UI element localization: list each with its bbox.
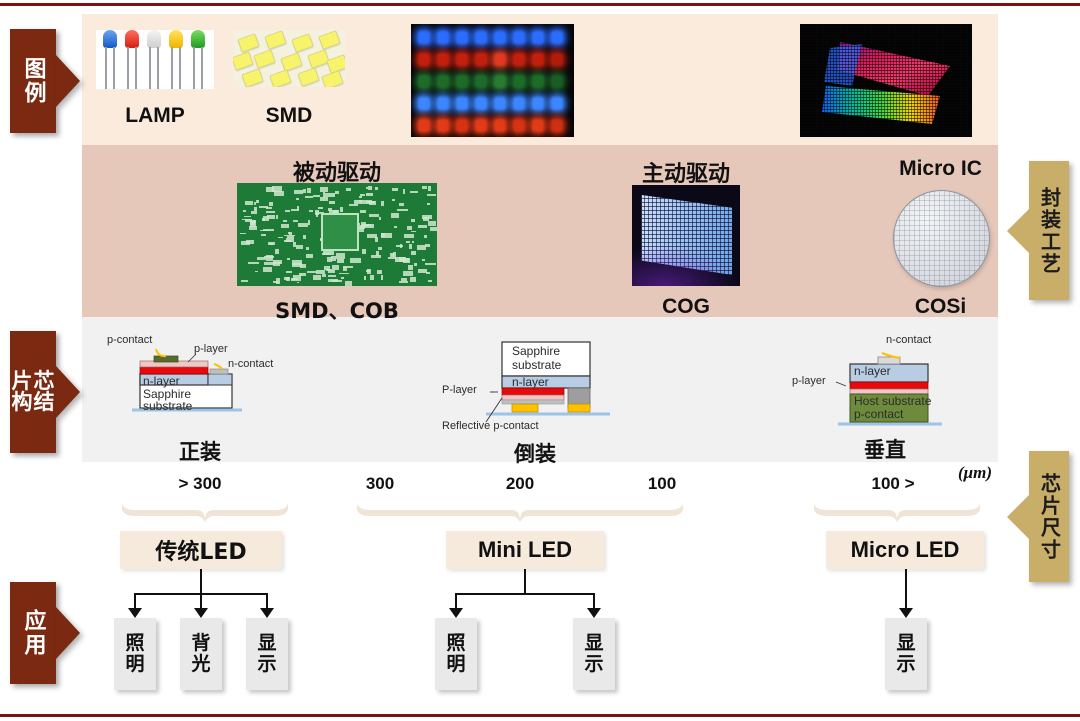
- flip-label-p-layer: P-layer: [442, 384, 477, 396]
- pcb-trace: [269, 202, 273, 205]
- pcb-trace: [371, 255, 381, 258]
- pcb-trace: [306, 247, 309, 250]
- lateral-chip-diagram: p-contact p-layer n-contact n-layer Sapp…: [110, 336, 290, 426]
- pcb-trace: [340, 207, 343, 212]
- pcb-trace: [276, 278, 280, 283]
- app-leaf-backlight[interactable]: 背光: [180, 618, 222, 690]
- pcb-trace: [241, 241, 250, 245]
- pcb-trace: [313, 195, 320, 197]
- led-pixel: [456, 31, 468, 44]
- pcb-trace: [399, 203, 404, 206]
- led-pixel: [494, 119, 506, 132]
- pcb-trace: [255, 271, 258, 273]
- pcb-trace: [278, 237, 283, 239]
- smd-caption: SMD: [233, 104, 345, 128]
- led-pixel: [418, 31, 430, 44]
- pcb-trace: [404, 234, 413, 237]
- flip-label-reflective-p-contact: Reflective p-contact: [442, 420, 539, 432]
- connector-vertical: [266, 593, 268, 609]
- flip-label-n-layer: n-layer: [512, 375, 549, 389]
- pcb-trace: [283, 220, 287, 223]
- pcb-trace: [297, 282, 299, 284]
- led-pixel: [456, 75, 468, 88]
- pcb-trace: [241, 280, 249, 282]
- pcb-trace: [263, 267, 272, 272]
- pcb-trace: [270, 243, 273, 245]
- pcb-trace: [406, 241, 411, 243]
- led-pixel: [475, 75, 487, 88]
- app-leaf-display-label: 显示: [896, 633, 915, 676]
- led-pixel: [551, 53, 563, 66]
- pcb-trace: [306, 254, 313, 259]
- bottom-divider-rule: [0, 714, 1080, 717]
- arrow-nose-icon: [56, 55, 80, 107]
- pcb-trace: [422, 186, 427, 189]
- pcb-trace: [411, 231, 416, 233]
- pcb-trace: [394, 226, 397, 228]
- pcb-trace: [335, 191, 340, 194]
- arrow-icon: [587, 608, 601, 618]
- smd-cob-caption: SMD、COB: [237, 295, 437, 325]
- pcb-trace: [343, 267, 347, 271]
- led-pixel: [475, 97, 487, 110]
- pcb-trace: [260, 230, 269, 232]
- pcb-chip: [321, 213, 359, 251]
- pcb-trace: [240, 233, 246, 235]
- category-traditional-led[interactable]: 传统LED: [120, 531, 282, 569]
- arrow-icon: [449, 608, 463, 618]
- pcb-trace: [294, 190, 303, 193]
- led-pixel: [475, 119, 487, 132]
- brace-traditional-led: [120, 500, 290, 522]
- led-white-icon: [146, 30, 162, 89]
- pcb-trace: [328, 208, 332, 211]
- pcb-trace: [259, 206, 268, 208]
- app-leaf-display[interactable]: 显示: [246, 618, 288, 690]
- flip-label-sapphire: Sapphire: [512, 344, 560, 358]
- rgb-led-array-photo: [411, 24, 574, 137]
- row-tag-legend[interactable]: 图例: [10, 29, 56, 133]
- pcb-trace: [296, 198, 299, 200]
- pcb-trace: [410, 277, 415, 282]
- pcb-trace: [377, 270, 382, 274]
- pcb-trace: [320, 187, 327, 192]
- pcb-trace: [322, 274, 326, 276]
- pcb-trace: [368, 186, 372, 190]
- pcb-trace: [366, 193, 372, 195]
- led-pixel: [437, 119, 449, 132]
- pcb-trace: [358, 227, 364, 232]
- pcb-trace: [298, 223, 308, 227]
- pcb-trace: [412, 241, 415, 243]
- pcb-trace: [285, 210, 290, 213]
- led-pixel: [494, 75, 506, 88]
- app-leaf-backlight-label: 背光: [191, 633, 210, 676]
- led-pixel: [532, 53, 544, 66]
- category-mini-led[interactable]: Mini LED: [446, 531, 604, 569]
- led-pixel: [494, 31, 506, 44]
- cog-caption: COG: [632, 295, 740, 319]
- lateral-label-substrate: substrate: [143, 399, 192, 413]
- led-pixel: [437, 75, 449, 88]
- pcb-trace: [428, 186, 431, 190]
- pcb-trace: [297, 206, 299, 210]
- pcb-trace: [337, 259, 344, 264]
- pcb-trace: [428, 221, 436, 226]
- smd-led-photo: [233, 30, 345, 87]
- pcb-trace: [381, 275, 383, 280]
- pcb-trace: [322, 253, 331, 255]
- pcb-trace: [403, 189, 405, 194]
- led-pixel: [418, 75, 430, 88]
- arrow-nose-icon: [56, 607, 80, 659]
- pcb-trace: [400, 244, 402, 248]
- vertical-label-n-contact: n-contact: [886, 334, 931, 346]
- pcb-trace: [292, 278, 298, 280]
- pcb-trace: [369, 214, 378, 217]
- pcb-trace: [345, 281, 353, 286]
- led-pixel: [513, 31, 525, 44]
- pcb-trace: [414, 263, 417, 266]
- connector-vertical: [455, 593, 457, 609]
- pcb-trace: [362, 249, 366, 254]
- connector-horizontal: [455, 593, 595, 595]
- size-value-lt-100: 100 >: [838, 474, 948, 494]
- pcb-trace: [397, 209, 407, 211]
- category-mini-led-label: Mini LED: [478, 537, 572, 563]
- pcb-trace: [425, 263, 435, 265]
- pcb-trace: [266, 187, 275, 192]
- app-leaf-display[interactable]: 显示: [885, 618, 927, 690]
- led-pixel: [494, 97, 506, 110]
- pcb-trace: [362, 224, 372, 226]
- app-leaf-display-label: 显示: [584, 633, 603, 676]
- pcb-trace: [332, 265, 339, 270]
- size-value-gt-300: > 300: [140, 474, 260, 494]
- led-pixel: [513, 53, 525, 66]
- pcb-trace: [331, 256, 335, 261]
- pcb-trace: [346, 188, 351, 191]
- pcb-trace: [366, 187, 368, 189]
- pcb-trace: [320, 197, 327, 201]
- row-tag-packaging-process[interactable]: 封装工艺: [1029, 161, 1069, 300]
- row-tag-packaging-process-label: 封装工艺: [1039, 187, 1060, 275]
- row-tag-chip-size[interactable]: 芯片尺寸: [1029, 451, 1069, 582]
- active-drive-cog-photo: [632, 185, 740, 286]
- pcb-trace: [422, 215, 432, 219]
- pcb-trace: [328, 275, 336, 277]
- led-pixel: [532, 97, 544, 110]
- vertical-label-p-contact: p-contact: [854, 407, 903, 421]
- pcb-trace: [409, 244, 412, 249]
- row-tag-legend-label: 图例: [21, 57, 44, 105]
- led-pixel: [494, 53, 506, 66]
- pcb-trace: [267, 215, 275, 219]
- arrow-icon: [899, 608, 913, 618]
- led-pixel: [418, 53, 430, 66]
- led-pixel: [418, 97, 430, 110]
- pcb-trace: [395, 257, 405, 262]
- pcb-trace: [286, 238, 294, 242]
- pcb-trace: [276, 215, 278, 219]
- flip-label-substrate: substrate: [512, 358, 561, 372]
- pcb-trace: [275, 249, 279, 253]
- pcb-trace: [339, 273, 350, 275]
- pcb-trace: [411, 219, 415, 221]
- pcb-trace: [427, 194, 436, 196]
- pcb-trace: [245, 201, 253, 205]
- pcb-trace: [313, 275, 322, 280]
- pcb-trace: [254, 202, 257, 206]
- pcb-trace: [430, 227, 437, 231]
- led-pixel: [513, 97, 525, 110]
- pcb-trace: [284, 235, 295, 237]
- pcb-trace: [381, 233, 392, 238]
- pcb-trace: [296, 245, 303, 248]
- vertical-label-n-layer: n-layer: [854, 364, 891, 378]
- led-pixel: [551, 119, 563, 132]
- pcb-trace: [422, 259, 425, 262]
- pcb-trace: [425, 244, 430, 247]
- pcb-trace: [257, 257, 266, 259]
- pcb-trace: [364, 276, 367, 280]
- pcb-trace: [349, 204, 359, 207]
- pcb-trace: [361, 200, 371, 204]
- pcb-trace: [251, 211, 257, 215]
- pcb-trace: [366, 270, 370, 272]
- vertical-label-p-layer: p-layer: [792, 375, 826, 387]
- flip-chip-structure-title: 倒装: [440, 438, 630, 468]
- row-tag-application[interactable]: 应用: [10, 582, 56, 684]
- app-leaf-display-label: 显示: [257, 633, 276, 676]
- led-pixel: [551, 75, 563, 88]
- pcb-trace: [359, 196, 362, 199]
- arrow-icon: [194, 608, 208, 618]
- pcb-trace: [418, 225, 427, 228]
- passive-drive-pcb-photo: [237, 183, 437, 286]
- category-micro-led-label: Micro LED: [851, 537, 960, 563]
- arrow-nose-icon: [56, 366, 80, 418]
- lateral-label-p-layer: p-layer: [194, 343, 228, 355]
- led-pixel: [475, 31, 487, 44]
- category-traditional-led-label: 传统LED: [155, 534, 246, 566]
- led-blue-icon: [102, 30, 118, 89]
- pixel-grid-overlay: [800, 24, 972, 137]
- row-tag-chip-structure-label: 芯 片 结 构: [12, 371, 55, 413]
- arrow-nose-icon: [1007, 209, 1029, 253]
- pcb-trace: [329, 201, 335, 204]
- led-pixel: [456, 53, 468, 66]
- pcb-trace: [323, 192, 326, 197]
- cosi-caption: COSi: [873, 295, 1008, 319]
- arrow-icon: [260, 608, 274, 618]
- char: 片: [12, 371, 33, 392]
- pcb-trace: [426, 272, 430, 274]
- lateral-label-n-contact: n-contact: [228, 358, 273, 370]
- led-red-icon: [124, 30, 140, 89]
- pcb-trace: [411, 251, 416, 255]
- lateral-label-p-contact: p-contact: [107, 334, 152, 346]
- brace-micro-led: [812, 500, 982, 522]
- top-divider-rule: [0, 3, 1080, 6]
- pcb-trace: [266, 211, 274, 213]
- arrow-nose-icon: [1007, 495, 1029, 539]
- vertical-label-host-substrate: Host substrate: [854, 394, 931, 408]
- app-leaf-display[interactable]: 显示: [573, 618, 615, 690]
- pcb-trace: [286, 271, 292, 273]
- pcb-trace: [261, 234, 267, 236]
- led-pixel: [475, 53, 487, 66]
- pcb-trace: [248, 262, 259, 264]
- connector-vertical: [200, 593, 202, 609]
- row-tag-chip-size-label: 芯片尺寸: [1039, 473, 1060, 561]
- pcb-trace: [254, 207, 257, 211]
- pcb-trace: [293, 220, 298, 222]
- pcb-trace: [273, 260, 282, 264]
- diagram-canvas: 图例 芯 片 结 构 应用 封装工艺 芯片尺寸: [0, 0, 1080, 721]
- lateral-structure-title: 正装: [110, 436, 290, 466]
- pcb-trace: [243, 210, 246, 213]
- app-leaf-lighting-label: 照明: [125, 633, 144, 676]
- led-pixel: [437, 53, 449, 66]
- pcb-trace: [360, 210, 366, 212]
- pcb-trace: [391, 213, 399, 218]
- app-leaf-lighting-label: 照明: [446, 633, 465, 676]
- pcb-trace: [359, 200, 361, 202]
- app-leaf-lighting[interactable]: 照明: [114, 618, 156, 690]
- pcb-trace: [379, 217, 381, 220]
- flexible-micro-led-photo: [800, 24, 972, 137]
- led-pixel: [456, 119, 468, 132]
- pcb-trace: [403, 271, 412, 276]
- pcb-trace: [332, 280, 342, 282]
- pcb-trace: [281, 224, 289, 228]
- pcb-trace: [292, 263, 301, 267]
- pcb-trace: [242, 219, 250, 221]
- led-pixel: [437, 31, 449, 44]
- category-micro-led[interactable]: Micro LED: [826, 531, 984, 569]
- pcb-trace: [244, 216, 252, 218]
- active-drive-label: 主动驱动: [618, 156, 754, 188]
- connector-vertical: [593, 593, 595, 609]
- pcb-trace: [307, 271, 316, 274]
- led-pixel: [513, 119, 525, 132]
- pcb-trace: [375, 237, 378, 242]
- size-value-300: 300: [330, 474, 430, 494]
- cosi-wafer-photo: [893, 190, 990, 287]
- led-pixel: [551, 97, 563, 110]
- pcb-trace: [428, 280, 432, 282]
- pcb-trace: [303, 235, 306, 239]
- pcb-trace: [309, 210, 313, 212]
- connector-vertical: [200, 569, 202, 594]
- app-leaf-lighting[interactable]: 照明: [435, 618, 477, 690]
- row-tag-chip-structure[interactable]: 芯 片 结 构: [10, 331, 56, 453]
- led-pixel: [532, 119, 544, 132]
- pcb-trace: [307, 188, 311, 193]
- led-pixel: [418, 119, 430, 132]
- connector-vertical: [134, 593, 136, 609]
- pcb-trace: [410, 191, 418, 193]
- char: 芯: [34, 371, 55, 392]
- pcb-trace: [392, 199, 395, 201]
- brace-mini-led: [355, 500, 685, 522]
- pcb-trace: [305, 196, 313, 198]
- pcb-trace: [427, 203, 430, 205]
- connector-vertical: [524, 569, 526, 594]
- pcb-trace: [284, 277, 289, 280]
- flip-chip-diagram: Sapphire substrate n-layer P-layer Refle…: [440, 336, 630, 431]
- packaging-band: [82, 145, 998, 317]
- led-pixel: [513, 75, 525, 88]
- pcb-trace: [375, 187, 378, 190]
- size-value-200: 200: [470, 474, 570, 494]
- lamp-caption: LAMP: [96, 104, 214, 128]
- lamp-led-photo: [96, 30, 214, 89]
- led-pixel: [532, 31, 544, 44]
- row-tag-application-label: 应用: [21, 609, 44, 657]
- lateral-label-n-layer: n-layer: [143, 374, 180, 388]
- char: 构: [12, 392, 33, 413]
- led-pixel: [551, 31, 563, 44]
- pcb-trace: [381, 201, 384, 206]
- pcb-trace: [303, 189, 306, 193]
- char: 结: [34, 392, 55, 413]
- micro-ic-label: Micro IC: [873, 157, 1008, 181]
- pcb-trace: [318, 207, 324, 209]
- size-unit-label: (μm): [958, 463, 992, 483]
- led-green-icon: [190, 30, 206, 89]
- pcb-trace: [341, 277, 344, 280]
- led-pixel: [456, 97, 468, 110]
- pcb-trace: [424, 235, 426, 238]
- led-pixel: [437, 97, 449, 110]
- vertical-structure-title: 垂直: [790, 434, 980, 464]
- arrow-icon: [128, 608, 142, 618]
- stage-glow: [632, 246, 740, 286]
- connector-vertical: [905, 569, 907, 609]
- pcb-trace: [392, 188, 398, 191]
- led-yellow-icon: [168, 30, 184, 89]
- pcb-trace: [370, 275, 374, 280]
- size-value-100: 100: [612, 474, 712, 494]
- pcb-trace: [408, 265, 413, 270]
- pcb-trace: [287, 258, 290, 260]
- led-pixel: [532, 75, 544, 88]
- pcb-trace: [350, 258, 360, 262]
- pcb-trace: [401, 278, 407, 282]
- vertical-chip-diagram: n-contact n-layer p-layer Host substrate…: [790, 336, 980, 428]
